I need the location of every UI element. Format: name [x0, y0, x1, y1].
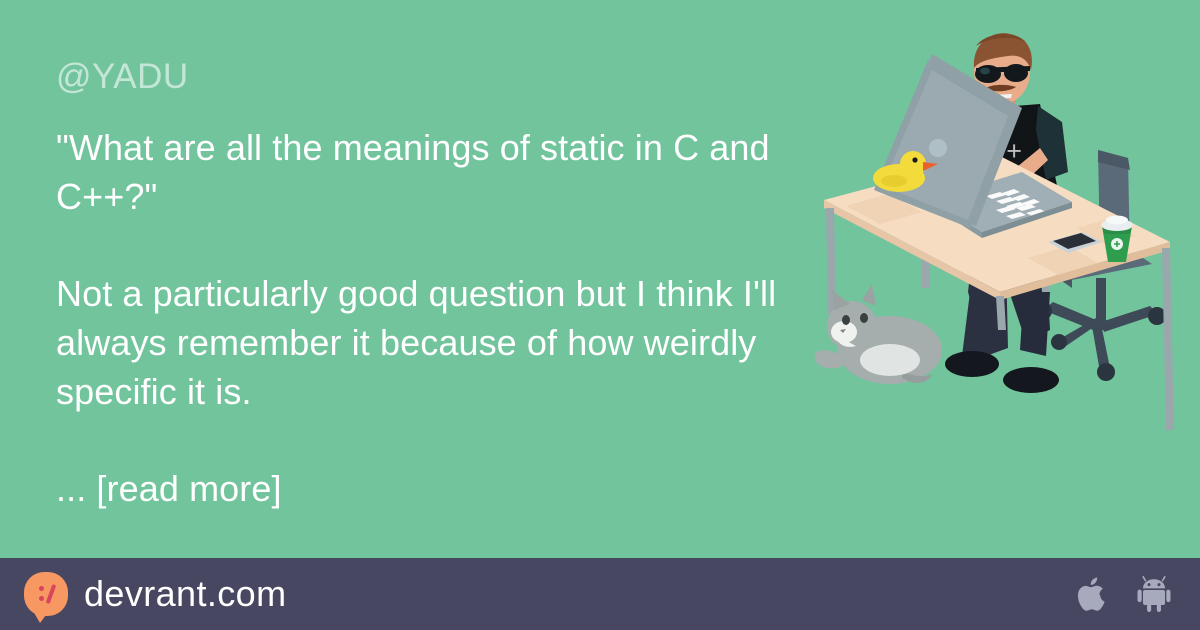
read-more-link[interactable]: ... [read more]	[56, 464, 816, 513]
shirt-text-cpp: C++	[969, 136, 1023, 166]
rant-comment: Not a particularly good question but I t…	[56, 269, 816, 416]
brand-name-label: devrant.com	[84, 573, 287, 615]
devrant-brand[interactable]: devrant.com	[24, 572, 287, 616]
rubber-duck-illustration	[873, 151, 938, 192]
apple-icon[interactable]	[1076, 574, 1110, 614]
colon-slash-face-icon	[24, 572, 68, 616]
cat-illustration	[814, 284, 942, 384]
rant-username[interactable]: @YADU	[56, 58, 816, 97]
smartphone-illustration	[1048, 232, 1102, 253]
desk-illustration	[824, 154, 1174, 430]
footer-bar: devrant.com	[0, 558, 1200, 630]
android-icon[interactable]	[1136, 574, 1172, 614]
developer-at-desk-illustration: C++	[810, 30, 1200, 490]
office-chair-illustration	[1034, 150, 1166, 381]
colon-dots	[39, 586, 44, 601]
app-store-badges	[1076, 574, 1172, 614]
devrant-logo-icon	[24, 572, 68, 616]
rant-quote: "What are all the meanings of static in …	[56, 123, 816, 221]
rant-body: "What are all the meanings of static in …	[56, 123, 816, 513]
coffee-cup-illustration	[1101, 216, 1133, 263]
colon-dot-bottom	[39, 596, 44, 601]
slash-mark	[46, 584, 57, 604]
rant-content: @YADU "What are all the meanings of stat…	[56, 58, 816, 513]
devrant-share-card: C++	[0, 0, 1200, 630]
developer-figure: C++	[940, 33, 1068, 393]
colon-dot-top	[39, 586, 44, 591]
laptop-illustration	[874, 54, 1072, 238]
